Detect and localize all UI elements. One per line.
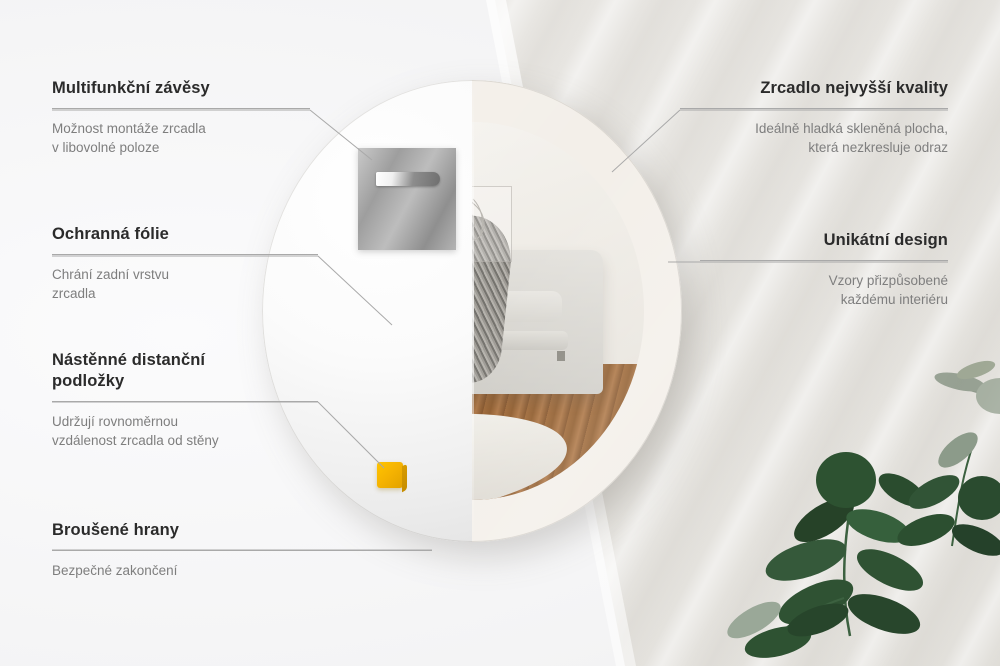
callout-description: Vzory přizpůsobenékaždému interiéru <box>700 271 948 309</box>
callout-rule <box>680 108 948 109</box>
callout-brousene-hrany: Broušené hrany Bezpečné zakončení <box>52 520 432 580</box>
callout-nastenne-distancni-podlozky: Nástěnné distančnípodložky Udržují rovno… <box>52 350 318 450</box>
callout-title: Zrcadlo nejvyšší kvality <box>680 78 948 99</box>
callout-title: Unikátní design <box>700 230 948 251</box>
callout-description: Udržují rovnoměrnouvzdálenost zrcadla od… <box>52 412 318 450</box>
callout-title: Multifunkční závěsy <box>52 78 310 99</box>
callout-description: Bezpečné zakončení <box>52 561 432 580</box>
callout-rule <box>52 550 432 551</box>
hanger-slot <box>376 172 441 185</box>
callout-rule <box>52 401 318 402</box>
callout-rule <box>52 108 310 109</box>
callout-title: Broušené hrany <box>52 520 432 541</box>
round-mirror <box>262 80 682 542</box>
callout-unikatni-design: Unikátní design Vzory přizpůsobenékaždém… <box>700 230 948 309</box>
hanger-bracket <box>358 148 456 250</box>
callout-rule <box>52 254 318 255</box>
callout-description: Chrání zadní vrstvuzrcadla <box>52 265 318 303</box>
callout-multifunkcni-zavesy: Multifunkční závěsy Možnost montáže zrca… <box>52 78 310 157</box>
callout-description: Možnost montáže zrcadlav libovolné poloz… <box>52 119 310 157</box>
callout-zrcadlo-nejvyssi-kvality: Zrcadlo nejvyšší kvality Ideálně hladká … <box>680 78 948 157</box>
callout-rule <box>700 260 948 261</box>
spacer-pad <box>377 462 403 488</box>
callout-title: Nástěnné distančnípodložky <box>52 350 318 392</box>
sofa-leg <box>557 351 566 361</box>
callout-ochranna-folie: Ochranná fólie Chrání zadní vrstvuzrcadl… <box>52 224 318 303</box>
callout-description: Ideálně hladká skleněná plocha,která nez… <box>680 119 948 157</box>
callout-title: Ochranná fólie <box>52 224 318 245</box>
infographic-canvas: Multifunkční závěsy Možnost montáže zrca… <box>0 0 1000 666</box>
